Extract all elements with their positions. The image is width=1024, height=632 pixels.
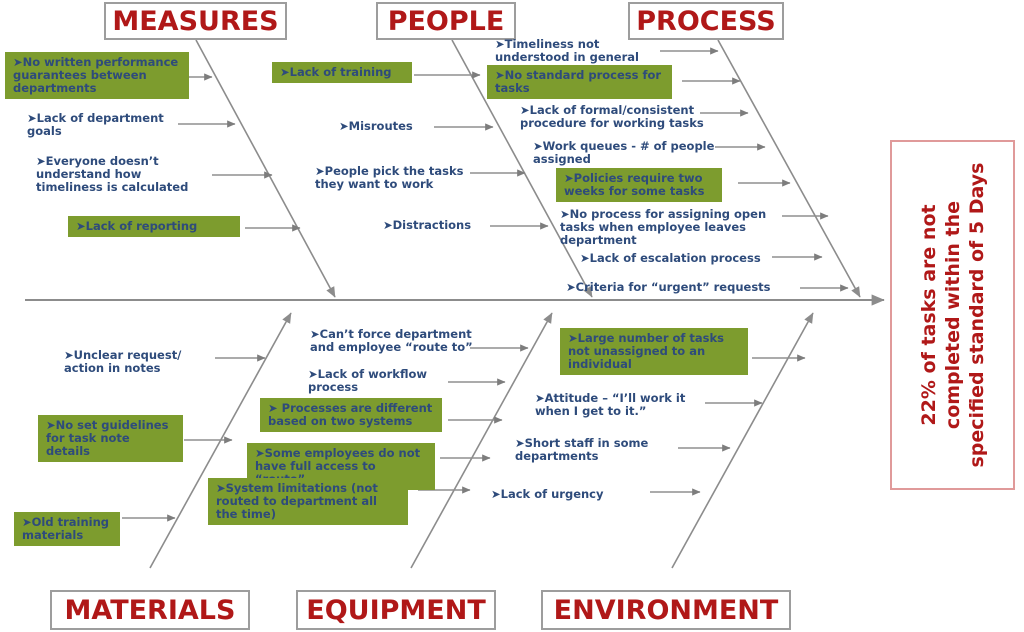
cause-equipment-2[interactable]: ➤ Processes are different based on two s… (260, 398, 442, 432)
cause-label: ➤Criteria for “urgent” requests (566, 280, 771, 294)
cause-process-1[interactable]: ➤No standard process for tasks (487, 65, 672, 99)
cause-people-1[interactable]: ➤Misroutes (339, 120, 459, 133)
cause-measures-2[interactable]: ➤Everyone doesn’t understand how timelin… (36, 155, 206, 194)
cause-label: ➤Can’t force department and employee “ro… (310, 327, 473, 354)
cause-process-4[interactable]: ➤Policies require two weeks for some tas… (556, 168, 722, 202)
cause-label: ➤Short staff in some departments (515, 436, 648, 463)
cause-environment-0[interactable]: ➤Large number of tasks not unassigned to… (560, 328, 748, 375)
cause-people-2[interactable]: ➤People pick the tasks they want to work (315, 165, 490, 191)
cause-equipment-4[interactable]: ➤System limitations (not routed to depar… (208, 478, 408, 525)
cause-label: ➤No written performance guarantees betwe… (13, 55, 178, 95)
cause-label: ➤People pick the tasks they want to work (315, 164, 463, 191)
category-header-label: ENVIRONMENT (554, 595, 779, 626)
cause-label: ➤Old training materials (22, 515, 109, 542)
category-header-process[interactable]: PROCESS (628, 2, 784, 40)
cause-label: ➤System limitations (not routed to depar… (216, 481, 378, 521)
cause-label: ➤Lack of training (280, 65, 392, 79)
cause-process-2[interactable]: ➤Lack of formal/consistent procedure for… (520, 104, 710, 130)
cause-label: ➤Work queues - # of people assigned (533, 139, 714, 166)
category-header-environment[interactable]: ENVIRONMENT (541, 590, 791, 630)
cause-label: ➤Misroutes (339, 119, 413, 133)
cause-environment-2[interactable]: ➤Short staff in some departments (515, 437, 670, 463)
cause-process-0[interactable]: ➤Timeliness not understood in general (495, 38, 645, 64)
category-header-measures[interactable]: MEASURES (104, 2, 287, 40)
cause-materials-2[interactable]: ➤Old training materials (14, 512, 120, 546)
cause-people-0[interactable]: ➤Lack of training (272, 62, 412, 83)
cause-materials-0[interactable]: ➤Unclear request/ action in notes (64, 349, 214, 375)
cause-label: ➤Everyone doesn’t understand how timelin… (36, 154, 188, 194)
cause-environment-3[interactable]: ➤Lack of urgency (491, 488, 621, 501)
category-header-equipment[interactable]: EQUIPMENT (296, 590, 496, 630)
cause-process-3[interactable]: ➤Work queues - # of people assigned (533, 140, 723, 166)
cause-label: ➤Unclear request/ action in notes (64, 348, 181, 375)
cause-label: ➤Lack of reporting (76, 219, 197, 233)
cause-label: ➤Attitude – “I’ll work it when I get to … (535, 391, 685, 418)
category-header-label: PROCESS (636, 6, 775, 37)
cause-equipment-1[interactable]: ➤Lack of workflow process (308, 368, 438, 394)
category-header-label: PEOPLE (388, 6, 505, 37)
cause-measures-0[interactable]: ➤No written performance guarantees betwe… (5, 52, 189, 99)
category-header-materials[interactable]: MATERIALS (50, 590, 250, 630)
cause-people-3[interactable]: ➤Distractions (383, 219, 513, 232)
category-header-label: EQUIPMENT (306, 595, 485, 626)
effect-text: 22% of tasks are not completed within th… (917, 150, 989, 480)
cause-label: ➤Lack of formal/consistent procedure for… (520, 103, 704, 130)
category-header-people[interactable]: PEOPLE (376, 2, 516, 40)
cause-label: ➤Lack of department goals (27, 111, 164, 138)
cause-environment-1[interactable]: ➤Attitude – “I’ll work it when I get to … (535, 392, 710, 418)
cause-label: ➤No set guidelines for task note details (46, 418, 168, 458)
category-header-label: MEASURES (112, 6, 278, 37)
cause-label: ➤No standard process for tasks (495, 68, 661, 95)
cause-process-7[interactable]: ➤Criteria for “urgent” requests (566, 281, 801, 294)
cause-label: ➤Lack of escalation process (580, 251, 761, 265)
category-header-label: MATERIALS (65, 595, 236, 626)
cause-equipment-0[interactable]: ➤Can’t force department and employee “ro… (310, 328, 480, 354)
cause-label: ➤No process for assigning open tasks whe… (560, 207, 766, 247)
cause-label: ➤Large number of tasks not unassigned to… (568, 331, 724, 371)
cause-label: ➤Policies require two weeks for some tas… (564, 171, 704, 198)
cause-label: ➤Lack of workflow process (308, 367, 427, 394)
cause-process-6[interactable]: ➤Lack of escalation process (580, 252, 770, 265)
cause-label: ➤Lack of urgency (491, 487, 604, 501)
fishbone-diagram: MEASURESPEOPLEPROCESSMATERIALSEQUIPMENTE… (0, 0, 1024, 632)
effect-box: 22% of tasks are not completed within th… (890, 140, 1015, 490)
cause-measures-3[interactable]: ➤Lack of reporting (68, 216, 240, 237)
cause-process-5[interactable]: ➤No process for assigning open tasks whe… (560, 208, 775, 247)
cause-label: ➤Timeliness not understood in general (495, 37, 639, 64)
cause-materials-1[interactable]: ➤No set guidelines for task note details (38, 415, 183, 462)
cause-label: ➤Distractions (383, 218, 471, 232)
cause-label: ➤ Processes are different based on two s… (268, 401, 432, 428)
cause-measures-1[interactable]: ➤Lack of department goals (27, 112, 187, 138)
